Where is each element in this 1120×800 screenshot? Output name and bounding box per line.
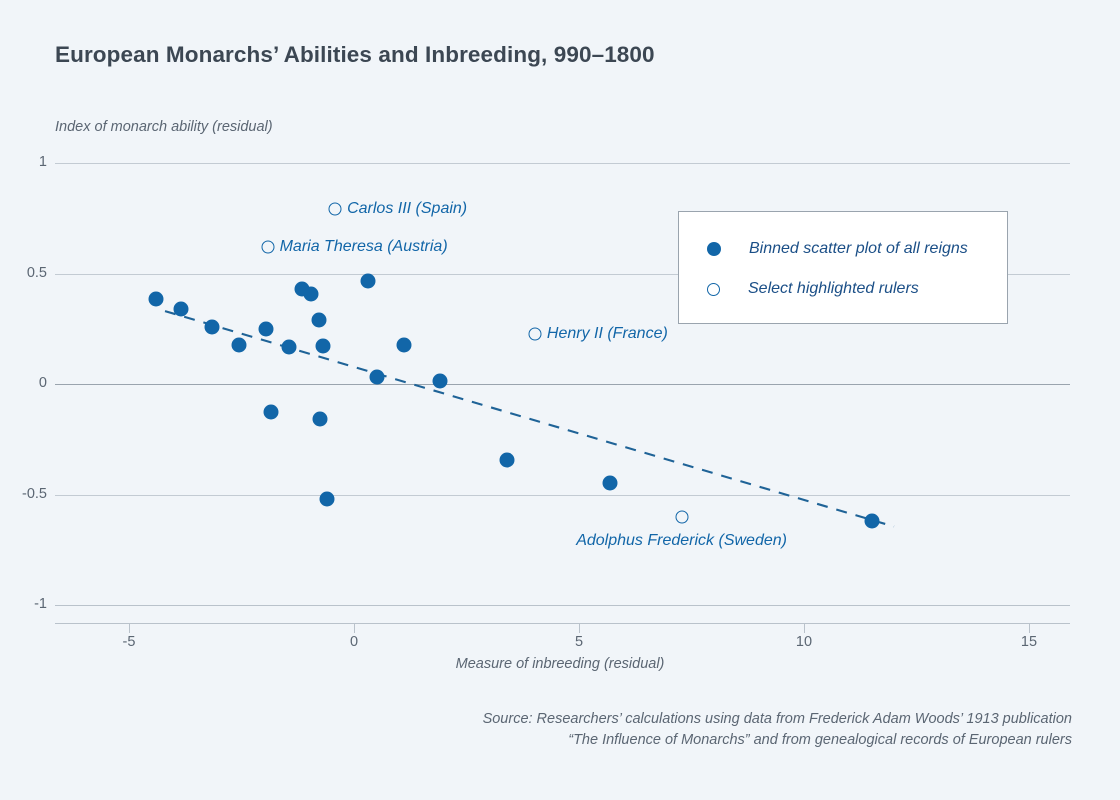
- x-tick-mark: [354, 623, 355, 633]
- y-tick-label: 0.5: [27, 265, 55, 281]
- scatter-point: [433, 373, 448, 388]
- y-tick-label: 0: [39, 375, 55, 391]
- scatter-point: [865, 514, 880, 529]
- highlighted-ruler-label: Carlos III (Spain): [347, 200, 467, 218]
- filled-circle-icon: [707, 242, 721, 256]
- scatter-point: [602, 476, 617, 491]
- highlighted-ruler-label: Maria Theresa (Austria): [280, 238, 448, 256]
- scatter-point: [315, 339, 330, 354]
- highlighted-ruler-marker: [261, 240, 274, 253]
- scatter-point: [313, 412, 328, 427]
- highlighted-ruler-marker: [329, 203, 342, 216]
- x-tick-label: 15: [1021, 634, 1037, 650]
- scatter-point: [304, 287, 319, 302]
- x-tick-label: -5: [123, 634, 136, 650]
- scatter-point: [320, 492, 335, 507]
- x-tick-label: 0: [350, 634, 358, 650]
- x-axis-line: [55, 623, 1070, 624]
- page-title: European Monarchs’ Abilities and Inbreed…: [55, 42, 655, 68]
- x-tick-label: 5: [575, 634, 583, 650]
- highlighted-ruler-label: Adolphus Frederick (Sweden): [576, 532, 787, 550]
- scatter-point: [370, 370, 385, 385]
- scatter-point: [263, 405, 278, 420]
- legend-item-label: Select highlighted rulers: [748, 280, 919, 298]
- scatter-point: [149, 291, 164, 306]
- scatter-point: [281, 339, 296, 354]
- scatter-point: [500, 453, 515, 468]
- legend-item-binned-scatter: Binned scatter plot of all reigns: [707, 240, 968, 258]
- source-note: Source: Researchers’ calculations using …: [312, 709, 1072, 751]
- scatter-point: [259, 321, 274, 336]
- legend: Binned scatter plot of all reigns Select…: [678, 211, 1008, 324]
- highlighted-ruler-label: Henry II (France): [547, 325, 668, 343]
- scatter-point: [173, 301, 188, 316]
- x-axis-label: Measure of inbreeding (residual): [0, 656, 1120, 672]
- scatter-point: [232, 338, 247, 353]
- scatter-point: [205, 319, 220, 334]
- open-circle-icon: [707, 283, 720, 296]
- y-tick-label: -1: [34, 596, 55, 612]
- legend-item-highlighted-rulers: Select highlighted rulers: [707, 280, 919, 298]
- x-tick-mark: [579, 623, 580, 633]
- scatter-point: [311, 312, 326, 327]
- y-tick-label: -0.5: [22, 486, 55, 502]
- scatter-point: [360, 274, 375, 289]
- y-tick-label: 1: [39, 154, 55, 170]
- gridline: [55, 605, 1070, 606]
- source-line-2: “The Influence of Monarchs” and from gen…: [312, 730, 1072, 751]
- x-tick-label: 10: [796, 634, 812, 650]
- y-axis-label: Index of monarch ability (residual): [55, 119, 273, 135]
- source-line-1: Source: Researchers’ calculations using …: [312, 709, 1072, 730]
- x-tick-mark: [804, 623, 805, 633]
- scatter-point: [396, 338, 411, 353]
- x-tick-mark: [129, 623, 130, 633]
- chart-page: European Monarchs’ Abilities and Inbreed…: [0, 0, 1120, 800]
- x-tick-mark: [1029, 623, 1030, 633]
- legend-item-label: Binned scatter plot of all reigns: [749, 240, 968, 258]
- highlighted-ruler-marker: [528, 328, 541, 341]
- highlighted-ruler-marker: [675, 510, 688, 523]
